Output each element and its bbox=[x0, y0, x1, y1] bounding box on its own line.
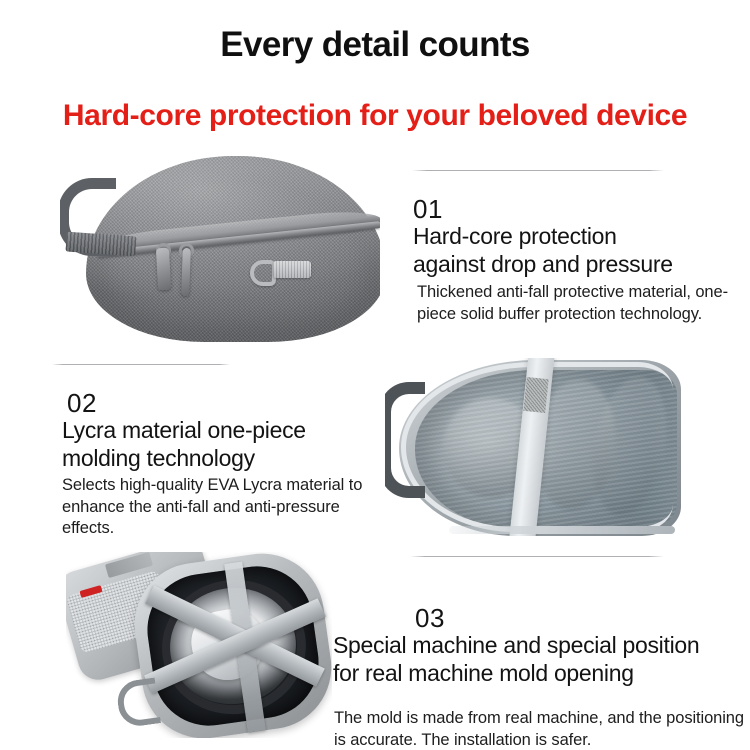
feature-heading-03-line1: Special machine and special position bbox=[333, 632, 750, 659]
feature-body-01: Thickened anti-fall protective material,… bbox=[417, 282, 733, 325]
feature-heading-02-line1: Lycra material one-piece bbox=[62, 417, 382, 444]
carry-handle bbox=[385, 382, 425, 498]
feature-number-03: 03 bbox=[415, 605, 750, 631]
handle-strap bbox=[65, 232, 136, 257]
feature-heading-01-line2: against drop and pressure bbox=[413, 251, 733, 278]
feature-heading-01-line1: Hard-core protection bbox=[413, 223, 733, 250]
feature-heading-02-line2: molding technology bbox=[62, 445, 382, 472]
webbing-tab bbox=[273, 261, 311, 278]
feature-block-03: 03 Special machine and special position … bbox=[330, 605, 750, 750]
product-photo-case-interior bbox=[385, 358, 681, 536]
case-hinge bbox=[115, 677, 161, 728]
zipper-pull-left bbox=[156, 248, 171, 291]
feature-heading-03-line2: for real machine mold opening bbox=[333, 660, 750, 687]
zipper-pull-right bbox=[181, 248, 191, 296]
feature-number-02: 02 bbox=[67, 390, 382, 416]
divider-feature-03 bbox=[410, 556, 664, 557]
feature-number-01: 01 bbox=[413, 196, 733, 222]
product-feature-infographic: Every detail counts Hard-core protection… bbox=[0, 0, 750, 750]
product-photo-closed-case bbox=[60, 148, 380, 348]
page-subtitle: Hard-core protection for your beloved de… bbox=[0, 99, 750, 132]
divider-feature-02 bbox=[52, 364, 230, 365]
feature-body-03: The mold is made from real machine, and … bbox=[334, 708, 750, 750]
case-base-edge bbox=[449, 526, 675, 534]
feature-body-02: Selects high-quality EVA Lycra material … bbox=[62, 475, 382, 539]
page-title: Every detail counts bbox=[0, 26, 750, 65]
velcro-patch bbox=[523, 377, 548, 413]
product-photo-case-with-headset bbox=[66, 552, 332, 738]
divider-feature-01 bbox=[412, 170, 664, 171]
feature-block-02: 02 Lycra material one-piece molding tech… bbox=[62, 390, 382, 540]
feature-block-01: 01 Hard-core protection against drop and… bbox=[413, 196, 733, 325]
